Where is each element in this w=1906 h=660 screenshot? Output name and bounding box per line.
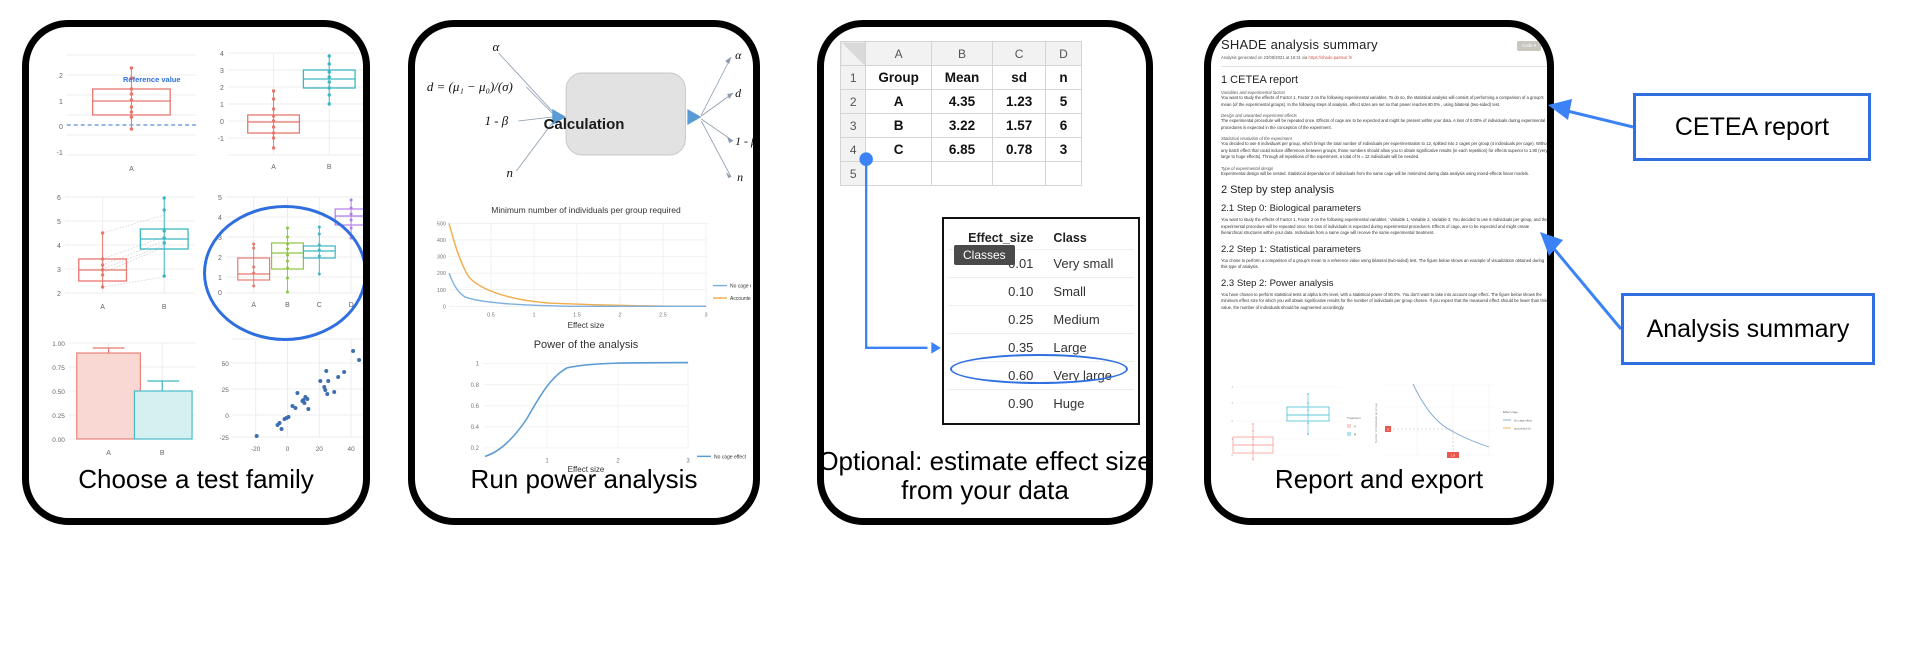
cell-d5[interactable]: [1046, 162, 1082, 186]
svg-text:4: 4: [1231, 385, 1233, 389]
plot-correlation-scatter[interactable]: 5025 0-25: [204, 325, 369, 467]
table-row[interactable]: 1 Group Mean sd n: [841, 66, 1082, 90]
panel-choose-test-family[interactable]: 21 0-1 A Reference: [22, 20, 370, 525]
cell-b3[interactable]: 3.22: [931, 114, 992, 138]
table-row[interactable]: 4 C 6.85 0.78 3: [841, 138, 1082, 162]
cell-b5[interactable]: [931, 162, 992, 186]
panel-2-caption: Run power analysis: [408, 465, 760, 494]
subsection-heading-2-3: 2.3 Step 2: Power analysis: [1221, 278, 1551, 289]
data-spreadsheet[interactable]: A B C D 1 Group Mean sd n 2 A 4.35 1.23 …: [840, 41, 1082, 186]
svg-text:0.2: 0.2: [471, 445, 480, 452]
svg-text:1: 1: [220, 102, 224, 109]
svg-text:-25: -25: [220, 435, 230, 442]
report-figures: 43 210 Treatment A B: [1217, 379, 1553, 463]
row-header-4[interactable]: 4: [841, 138, 866, 162]
svg-text:n: n: [737, 170, 743, 184]
effect-size-class-table[interactable]: Effect_size Class 0.01 Very small 0.10 S…: [942, 217, 1140, 425]
highlight-ellipse-large: [950, 354, 1128, 384]
row-header-2[interactable]: 2: [841, 90, 866, 114]
document-subtitle-link[interactable]: https://shade.pasteur.fr/: [1309, 55, 1353, 60]
svg-text:0: 0: [1231, 453, 1233, 457]
svg-text:1: 1: [218, 275, 222, 282]
svg-text:0.00: 0.00: [52, 437, 65, 444]
svg-text:0.4: 0.4: [471, 424, 480, 431]
svg-text:1: 1: [59, 99, 63, 106]
svg-text:0.6: 0.6: [471, 403, 480, 410]
row-header-5[interactable]: 5: [841, 162, 866, 186]
svg-text:A: A: [251, 302, 256, 309]
svg-text:1 - β: 1 - β: [735, 134, 753, 148]
svg-text:3: 3: [704, 313, 707, 319]
subsection-heading-2-1: 2.1 Step 0: Biological parameters: [1221, 203, 1551, 214]
svg-text:3: 3: [1231, 401, 1233, 405]
svg-text:accounted for: accounted for: [1514, 427, 1531, 431]
cell-c5[interactable]: [993, 162, 1046, 186]
chart-min-xlabel: Effect size: [421, 321, 751, 330]
panel-4-caption: Report and export: [1204, 465, 1554, 494]
svg-text:0: 0: [443, 304, 446, 310]
svg-text:3: 3: [220, 68, 224, 75]
svg-text:C: C: [317, 302, 322, 309]
callout-summary-label: Analysis summary: [1647, 315, 1850, 344]
svg-text:d = (μ₁ − μ₀)/(σ): d = (μ₁ − μ₀)/(σ): [427, 79, 513, 94]
svg-text:3: 3: [57, 267, 61, 274]
cell-d4[interactable]: 3: [1046, 138, 1082, 162]
panel-report-and-export[interactable]: Code ▾ SHADE analysis summary Analysis g…: [1204, 20, 1554, 525]
svg-text:A: A: [129, 166, 134, 173]
svg-text:3: 3: [218, 235, 222, 242]
svg-text:d: d: [735, 86, 741, 100]
svg-text:0.25: 0.25: [52, 413, 65, 420]
plot-paired-boxplot[interactable]: 654 32: [37, 181, 202, 323]
effect-class-0: Very small: [1039, 250, 1134, 278]
subsection-text-2-3: You have chosen to perform statistical t…: [1221, 292, 1551, 312]
svg-text:400: 400: [437, 238, 446, 244]
svg-text:20: 20: [316, 446, 324, 453]
svg-text:-1: -1: [218, 136, 224, 143]
cell-d3[interactable]: 6: [1046, 114, 1082, 138]
svg-text:B: B: [160, 450, 165, 457]
block-text-3: Experimental design will be nested. Stat…: [1221, 171, 1551, 178]
svg-text:B: B: [162, 304, 167, 311]
svg-text:2: 2: [57, 291, 61, 298]
svg-text:0: 0: [218, 290, 222, 297]
cell-b2[interactable]: 4.35: [931, 90, 992, 114]
cell-a2[interactable]: A: [866, 90, 932, 114]
svg-text:1.8: 1.8: [1451, 454, 1456, 458]
svg-text:0.5: 0.5: [487, 313, 495, 319]
svg-text:2.5: 2.5: [659, 313, 667, 319]
plot-two-sample-boxplot[interactable]: 432 10-1: [204, 37, 369, 179]
table-row[interactable]: 2 A 4.35 1.23 5: [841, 90, 1082, 114]
svg-text:2: 2: [618, 313, 621, 319]
svg-text:6: 6: [57, 195, 61, 202]
svg-text:5: 5: [218, 195, 222, 202]
svg-text:1.00: 1.00: [52, 341, 65, 348]
cell-a5[interactable]: [866, 162, 932, 186]
effect-class-2: Medium: [1039, 306, 1134, 334]
svg-text:Treatment: Treatment: [1347, 416, 1361, 420]
table-row[interactable]: 5: [841, 162, 1082, 186]
svg-text:No cage effect: No cage effect: [714, 454, 747, 460]
svg-text:0: 0: [59, 124, 63, 131]
svg-text:100: 100: [437, 288, 446, 294]
effect-size-value-5: 0.90: [948, 390, 1039, 418]
code-badge[interactable]: Code ▾: [1517, 41, 1541, 51]
svg-text:0: 0: [220, 119, 224, 126]
column-header-d[interactable]: D: [1046, 42, 1082, 66]
svg-text:2: 2: [59, 73, 63, 80]
panel-3-caption: Optional: estimate effect size from your…: [817, 447, 1153, 505]
cell-a4[interactable]: C: [866, 138, 932, 162]
cell-a1[interactable]: Group: [866, 66, 932, 90]
svg-text:300: 300: [437, 255, 446, 261]
subsection-text-2-2: You chose to perform a comparison of a g…: [1221, 258, 1551, 271]
svg-text:A: A: [1354, 425, 1356, 429]
section-heading-2: 2 Step by step analysis: [1221, 184, 1551, 196]
svg-text:40: 40: [348, 446, 356, 453]
chart-power-of-analysis[interactable]: Power of the analysis 10.80.6 0.40.2 123: [421, 333, 751, 473]
svg-text:0.75: 0.75: [52, 365, 65, 372]
cell-c2[interactable]: 1.23: [993, 90, 1046, 114]
svg-text:α: α: [735, 48, 742, 62]
cell-b4[interactable]: 6.85: [931, 138, 992, 162]
chart-power-title: Power of the analysis: [421, 339, 751, 351]
effect-class-1: Small: [1039, 278, 1134, 306]
svg-text:Accounted for: Accounted for: [730, 296, 751, 302]
svg-text:1: 1: [532, 313, 535, 319]
svg-text:25: 25: [222, 387, 230, 394]
svg-text:4: 4: [218, 215, 222, 222]
document-subtitle-text: Analysis generated on 23/08/2021 at 16:3…: [1221, 55, 1309, 60]
effect-size-value-1: 0.10: [948, 278, 1039, 306]
subsection-text-2-1: You want to study the effects of Factor …: [1221, 217, 1551, 237]
svg-text:5: 5: [57, 219, 61, 226]
spreadsheet-header-row: A B C D: [841, 42, 1082, 66]
svg-text:B: B: [285, 302, 290, 309]
cell-c4[interactable]: 0.78: [993, 138, 1046, 162]
power-analysis-flow-diagram: α d = (μ₁ − μ₀)/(σ) 1 - β n α d 1 - β n …: [415, 31, 753, 217]
svg-text:A: A: [100, 304, 105, 311]
block-text-0: You want to study the effects of Factor …: [1221, 95, 1551, 108]
callout-analysis-summary[interactable]: Analysis summary: [1621, 293, 1875, 365]
svg-text:0: 0: [225, 413, 229, 420]
block-text-2: You decided to use 6 individuals per gro…: [1221, 141, 1551, 161]
block-text-1: The experimental procedure will be repea…: [1221, 118, 1551, 131]
callout-cetea-label: CETEA report: [1675, 113, 1829, 142]
svg-text:A: A: [106, 450, 111, 457]
svg-text:2: 2: [218, 255, 222, 262]
cell-d1[interactable]: n: [1046, 66, 1082, 90]
svg-text:0.8: 0.8: [471, 382, 480, 389]
row-header-3[interactable]: 3: [841, 114, 866, 138]
workflow-diagram: 21 0-1 A Reference: [0, 0, 1906, 660]
svg-text:-20: -20: [251, 446, 261, 453]
plot-proportion-barplot[interactable]: 1.000.750.50 0.250.00 AB: [37, 325, 202, 467]
svg-text:D: D: [349, 302, 354, 309]
svg-text:n: n: [506, 165, 512, 180]
document-title: SHADE analysis summary: [1221, 37, 1551, 52]
svg-text:1.5: 1.5: [573, 313, 581, 319]
cell-c1[interactable]: sd: [993, 66, 1046, 90]
svg-text:1: 1: [476, 361, 480, 368]
list-item[interactable]: 0.25 Medium: [948, 306, 1134, 334]
plot-multi-group-boxplot[interactable]: 543 210: [204, 181, 369, 323]
svg-text:No cage effect: No cage effect: [730, 284, 751, 290]
panel-1-caption: Choose a test family: [22, 465, 370, 494]
cell-c3[interactable]: 1.57: [993, 114, 1046, 138]
svg-text:2: 2: [1231, 419, 1233, 423]
svg-text:200: 200: [437, 271, 446, 277]
list-item[interactable]: 0.90 Huge: [948, 390, 1134, 418]
svg-text:50: 50: [222, 361, 230, 368]
panel-run-power-analysis[interactable]: α d = (μ₁ − μ₀)/(σ) 1 - β n α d 1 - β n …: [408, 20, 760, 525]
effect-class-5: Huge: [1039, 390, 1134, 418]
svg-text:Number of individuals per grou: Number of individuals per group: [1374, 403, 1378, 443]
test-family-plot-grid: 21 0-1 A Reference: [37, 37, 369, 467]
table-row[interactable]: 3 B 3.22 1.57 6: [841, 114, 1082, 138]
column-header-b[interactable]: B: [931, 42, 992, 66]
chart-minimum-individuals[interactable]: Minimum number of individuals per group …: [421, 203, 751, 333]
svg-text:B: B: [1354, 433, 1356, 437]
cell-d2[interactable]: 5: [1046, 90, 1082, 114]
svg-text:B: B: [327, 164, 332, 171]
document-subtitle: Analysis generated on 23/08/2021 at 16:3…: [1221, 55, 1551, 60]
reference-value-label: Reference value: [123, 75, 181, 84]
plot-one-sample-boxplot[interactable]: 21 0-1 A Reference: [37, 37, 202, 179]
svg-text:2: 2: [220, 85, 224, 92]
svg-text:0: 0: [286, 446, 290, 453]
cell-a3[interactable]: B: [866, 114, 932, 138]
svg-text:A: A: [271, 164, 276, 171]
svg-text:500: 500: [437, 221, 446, 227]
svg-text:1 - β: 1 - β: [485, 113, 509, 128]
callout-cetea-report[interactable]: CETEA report: [1633, 93, 1871, 161]
section-heading-1: 1 CETEA report: [1221, 74, 1551, 86]
effect-size-value-2: 0.25: [948, 306, 1039, 334]
svg-text:4: 4: [57, 243, 61, 250]
svg-text:α: α: [493, 39, 501, 54]
subsection-heading-2-2: 2.2 Step 1: Statistical parameters: [1221, 244, 1551, 255]
list-item[interactable]: 0.10 Small: [948, 278, 1134, 306]
svg-text:Effect cage: Effect cage: [1503, 410, 1518, 414]
svg-text:4: 4: [220, 51, 224, 58]
column-header-c[interactable]: C: [993, 42, 1046, 66]
cell-b1[interactable]: Mean: [931, 66, 992, 90]
svg-text:-1: -1: [57, 150, 63, 157]
class-header: Class: [1039, 227, 1134, 250]
svg-text:0.50: 0.50: [52, 389, 65, 396]
chart-min-title: Minimum number of individuals per group …: [421, 205, 751, 215]
divider: [1221, 66, 1551, 67]
column-header-a[interactable]: A: [866, 42, 932, 66]
svg-text:No cage effect: No cage effect: [1514, 419, 1532, 423]
classes-tooltip: Classes: [954, 245, 1015, 265]
row-header-1[interactable]: 1: [841, 66, 866, 90]
spreadsheet-corner[interactable]: [841, 42, 866, 66]
